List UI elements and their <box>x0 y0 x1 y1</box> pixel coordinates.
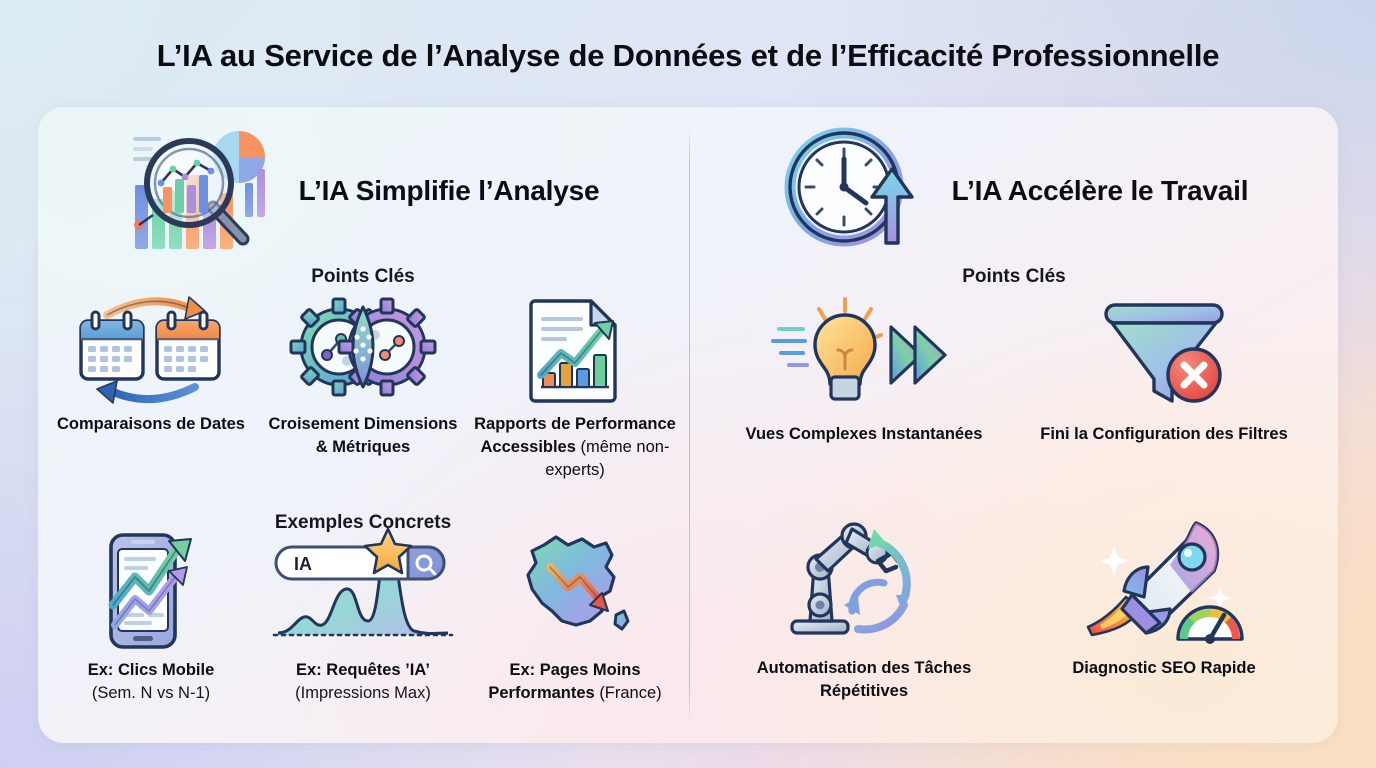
column-header-analyse: L’IA Simplifie l’Analyse <box>38 117 688 265</box>
rocket-gauge-icon <box>1074 527 1254 649</box>
clock-arrow-up-icon <box>780 121 930 261</box>
infographic-card: L’IA Simplifie l’Analyse Points Clés <box>38 107 1338 743</box>
item-label: Automatisation des Tâches Répétitives <box>714 657 1014 703</box>
calendar-compare-icon <box>71 293 231 405</box>
item-automatisation-taches-repetitives: Automatisation des Tâches Répétitives <box>714 527 1014 703</box>
item-comparaisons-de-dates: Comparaisons de Dates <box>45 293 257 481</box>
item-croisement-dimensions-metriques: Croisement Dimensions & Métriques <box>257 293 469 481</box>
items-points-cles-left: Comparaisons de Dates <box>38 293 688 481</box>
column-header-travail: L’IA Accélère le Travail <box>689 117 1338 265</box>
item-label: Rapports de Performance Accessibles (mêm… <box>469 413 681 481</box>
item-rapports-de-performance: Rapports de Performance Accessibles (mêm… <box>469 293 681 481</box>
item-label: Croisement Dimensions & Métriques <box>257 413 469 459</box>
section-heading-points-cles-left: Points Clés <box>38 266 688 288</box>
robot-arm-cycle-icon <box>774 527 954 649</box>
item-label: Ex: Requêtes ’IA’ <box>292 659 434 682</box>
item-label: Ex: Pages Moins Performantes (France) <box>469 659 681 705</box>
item-ex-requetes-ia: IA Ex: Requêtes ’IA’ (Impressions Max) <box>257 539 469 705</box>
items-points-cles-right: Vues Complexes Instantanées <box>689 293 1338 446</box>
item-caption: (Sem. N vs N-1) <box>92 682 210 705</box>
items-automatisation: Automatisation des Tâches Répétitives <box>689 527 1338 703</box>
mobile-growth-icon <box>91 539 211 651</box>
items-exemples-concrets: Ex: Clics Mobile (Sem. N vs N-1) <box>38 539 688 705</box>
page-title: L’IA au Service de l’Analyse de Données … <box>0 38 1376 74</box>
column-travail: L’IA Accélère le Travail Points Clés <box>689 107 1338 743</box>
item-fini-la-configuration-des-filtres: Fini la Configuration des Filtres <box>1014 293 1314 446</box>
item-label: Vues Complexes Instantanées <box>742 423 987 446</box>
item-caption: (Impressions Max) <box>295 682 431 705</box>
item-label: Ex: Clics Mobile <box>84 659 219 682</box>
magnifier-bar-chart-icon <box>127 121 277 261</box>
search-query-text: IA <box>294 554 312 574</box>
report-growth-icon <box>505 293 645 405</box>
france-map-decline-icon <box>510 539 640 651</box>
item-ex-clics-mobile: Ex: Clics Mobile (Sem. N vs N-1) <box>45 539 257 705</box>
column-header-title: L’IA Simplifie l’Analyse <box>299 175 600 207</box>
section-heading-points-cles-right: Points Clés <box>689 266 1338 288</box>
item-ex-pages-moins-performantes: Ex: Pages Moins Performantes (France) <box>469 539 681 705</box>
item-label: Diagnostic SEO Rapide <box>1068 657 1259 680</box>
funnel-cancel-icon <box>1094 293 1234 415</box>
item-label: Fini la Configuration des Filtres <box>1036 423 1292 446</box>
search-bar-peak-icon: IA <box>268 539 458 651</box>
lightbulb-fastforward-icon <box>769 293 959 415</box>
gears-venn-icon <box>283 293 443 405</box>
item-label-caption: (France) <box>599 684 661 702</box>
item-vues-complexes-instantanees: Vues Complexes Instantanées <box>714 293 1014 446</box>
item-label: Comparaisons de Dates <box>53 413 249 436</box>
column-analyse: L’IA Simplifie l’Analyse Points Clés <box>38 107 688 743</box>
column-header-title: L’IA Accélère le Travail <box>952 175 1249 207</box>
item-diagnostic-seo-rapide: Diagnostic SEO Rapide <box>1014 527 1314 703</box>
